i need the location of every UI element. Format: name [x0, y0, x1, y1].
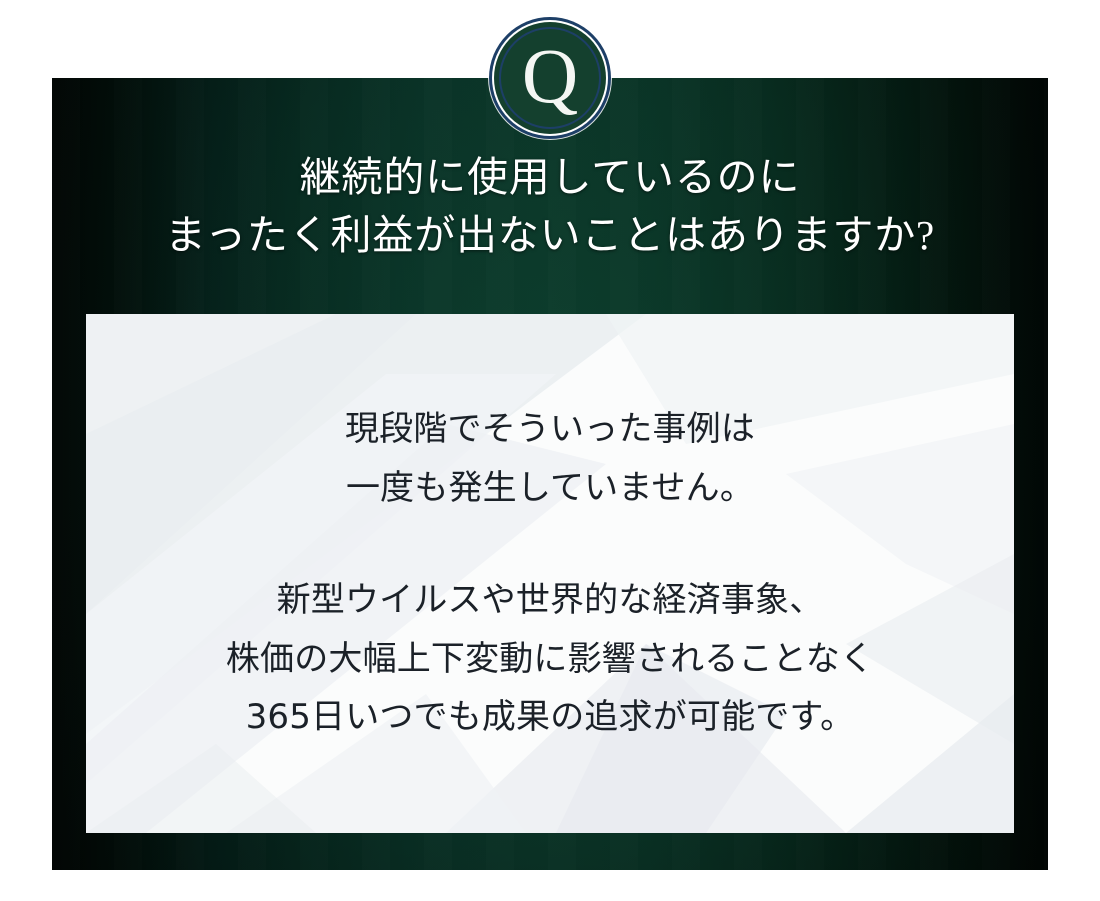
- answer-p2-line-1: 新型ウイルスや世界的な経済事象、: [226, 571, 874, 629]
- question-line-1: 継続的に使用しているのに: [52, 148, 1048, 206]
- badge-letter: Q: [522, 37, 578, 115]
- answer-paragraph-2: 新型ウイルスや世界的な経済事象、 株価の大幅上下変動に影響されることなく 365…: [226, 571, 874, 746]
- answer-p1-line-1: 現段階でそういった事例は: [345, 400, 755, 458]
- answer-text-block: 現段階でそういった事例は 一度も発生していません。 新型ウイルスや世界的な経済事…: [86, 314, 1014, 833]
- question-badge-icon: Q: [494, 22, 606, 134]
- answer-p2-line-2: 株価の大幅上下変動に影響されることなく: [226, 630, 874, 688]
- answer-paragraph-1: 現段階でそういった事例は 一度も発生していません。: [345, 400, 755, 517]
- answer-p1-line-2: 一度も発生していません。: [345, 459, 755, 517]
- faq-slide: Q 継続的に使用しているのに まったく利益が出ないことはありますか?: [0, 0, 1100, 901]
- question-line-2: まったく利益が出ないことはありますか?: [52, 206, 1048, 264]
- answer-p2-line-3: 365日いつでも成果の追求が可能です。: [226, 688, 874, 746]
- question-heading: 継続的に使用しているのに まったく利益が出ないことはありますか?: [52, 148, 1048, 264]
- answer-card: 現段階でそういった事例は 一度も発生していません。 新型ウイルスや世界的な経済事…: [86, 314, 1014, 833]
